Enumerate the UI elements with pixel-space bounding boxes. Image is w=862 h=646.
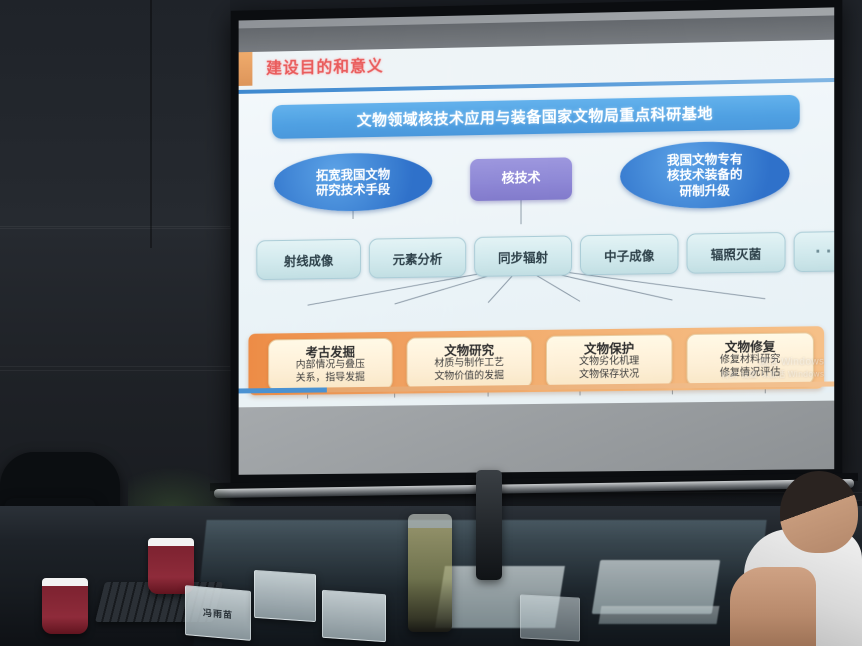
wall-seam [0, 370, 256, 371]
wall-seam [0, 228, 252, 229]
goal-node-1: 拓宽我国文物 研究技术手段 [274, 152, 432, 212]
presentation-slide: 建设目的和意义 [239, 15, 835, 407]
slide-body: 文物领域核技术应用与装备国家文物局重点科研基地 拓宽我国文物 研究技术手段 核技… [239, 82, 835, 399]
watermark-line-2: 转到"设置"以激活 Windows [721, 370, 824, 382]
wall-panel [0, 226, 230, 367]
application-3-line2: 文物保存状况 [579, 368, 639, 381]
technology-node-2: 元素分析 [369, 237, 466, 278]
nameplate [254, 570, 316, 622]
goal-3-line3: 研制升级 [679, 182, 729, 198]
application-node-2: 文物研究 材质与制作工艺 文物价值的发掘 [407, 336, 532, 389]
technology-node-5: 辐照灭菌 [687, 232, 786, 274]
glass-tea-bottle [408, 514, 452, 632]
application-4-heading: 文物修复 [725, 339, 776, 355]
technology-node-3: 同步辐射 [474, 235, 572, 276]
technology-node-4: 中子成像 [580, 234, 678, 276]
application-3-heading: 文物保护 [584, 341, 634, 357]
technology-node-1: 射线成像 [256, 239, 361, 280]
seated-attendee [737, 471, 862, 646]
slide-title: 建设目的和意义 [266, 52, 384, 78]
wall-panel [0, 0, 230, 227]
nameplate [520, 594, 580, 641]
slide-accent-bar [239, 52, 253, 86]
nameplate: 冯雨苗 [185, 585, 251, 641]
conference-microphone [476, 470, 502, 580]
application-2-line2: 文物价值的发掘 [434, 370, 504, 383]
paper-cup [42, 578, 88, 634]
goal-node-3: 我国文物专有 核技术装备的 研制升级 [620, 140, 789, 209]
application-1-line1: 内部情况与叠压 [296, 360, 365, 373]
application-3-line1: 文物劣化机理 [579, 356, 639, 369]
attendee-arm [730, 567, 816, 646]
attendee-head [780, 471, 858, 553]
application-1-line2: 关系，指导发掘 [296, 372, 365, 385]
application-node-3: 文物保护 文物劣化机理 文物保存状况 [546, 334, 672, 388]
windows-activation-watermark: 激活 Windows 转到"设置"以激活 Windows [721, 357, 824, 382]
goal-1-line1: 拓宽我国文物 [316, 166, 390, 182]
goal-2-label: 核技术 [502, 171, 541, 188]
goal-1-line2: 研究技术手段 [316, 182, 390, 198]
goal-node-2: 核技术 [470, 157, 572, 201]
conference-room-photo: 建设目的和意义 [0, 0, 862, 646]
application-1-heading: 考古发掘 [306, 345, 355, 361]
technology-node-more: ··· [794, 231, 835, 272]
goal-3-line2: 核技术装备的 [667, 167, 743, 184]
application-2-line1: 材质与制作工艺 [434, 358, 504, 371]
goal-3-line1: 我国文物专有 [667, 151, 743, 168]
root-label: 文物领域核技术应用与装备国家文物局重点科研基地 [357, 104, 713, 129]
wall-seam [150, 0, 152, 248]
projection-screen: 建设目的和意义 [231, 0, 843, 485]
notebook-shadow [599, 606, 720, 624]
application-node-1: 考古发掘 内部情况与叠压 关系，指导发掘 [268, 338, 393, 391]
nameplate [322, 590, 386, 642]
application-2-heading: 文物研究 [444, 343, 494, 359]
diagram-root-node: 文物领域核技术应用与装备国家文物局重点科研基地 [272, 95, 800, 139]
